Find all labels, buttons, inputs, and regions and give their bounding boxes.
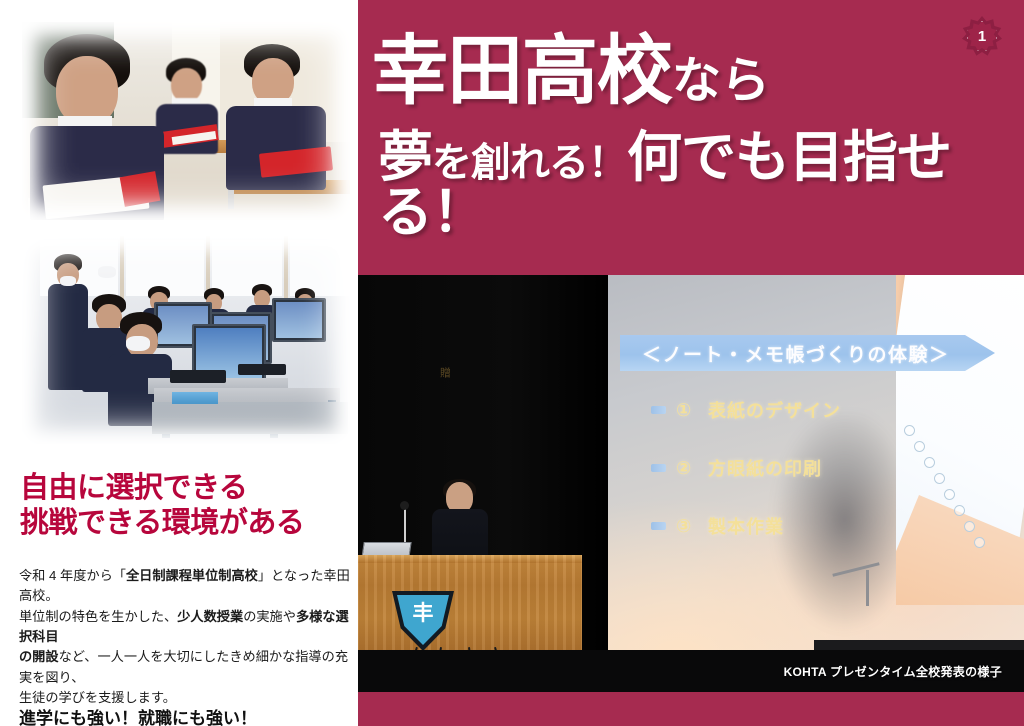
body-text: など、一人一人を大切にしたきめ細かな指導の充実を図り、 [19, 649, 348, 684]
title-dream: 夢 [378, 126, 432, 188]
body-paragraph-2: 単位制の特色を生かした、少人数授業の実施や多様な選択科目 [19, 607, 351, 648]
school-emblem-icon: 丰 [392, 591, 454, 651]
body-paragraph-1: 令和 4 年度から「全日制課程単位制高校」となった幸田高校。 [19, 566, 351, 607]
body-paragraph-4: 生徒の学びを支援します。 [19, 688, 351, 708]
bullet-icon [651, 406, 666, 414]
body-strong: の開設 [19, 649, 59, 664]
bullet-icon [651, 522, 666, 530]
left-column: 自由に選択できる 挑戦できる環境がある 令和 4 年度から「全日制課程単位制高校… [0, 0, 358, 726]
body-subheading: 進学にも強い！就職にも強い！ [19, 708, 351, 726]
slide-item-number: ③ [676, 516, 698, 537]
body-copy: 令和 4 年度から「全日制課程単位制高校」となった幸田高校。 単位制の特色を生か… [19, 566, 351, 726]
slide-banner: ＜ノート・メモ帳づくりの体験＞ [620, 335, 995, 371]
slide-item-number: ② [676, 458, 698, 479]
slide-item-label: 表紙のデザイン [708, 397, 841, 423]
slide-item-label: 製本作業 [708, 513, 784, 539]
slide-item-number: ① [676, 400, 698, 421]
notebook-graphic [896, 275, 1024, 605]
body-strong: 全日制課程単位制高校 [126, 568, 258, 583]
photo-caption: KOHTA プレゼンタイム全校発表の様子 [784, 663, 1002, 680]
projection-screen: ＜ノート・メモ帳づくりの体験＞ ① 表紙のデザイン ② 方眼紙の印刷 ③ 製本作… [601, 275, 1024, 675]
slide-item-3: ③ 製本作業 [651, 513, 784, 539]
slide-item-1: ① 表紙のデザイン [651, 397, 841, 423]
slide-item-2: ② 方眼紙の印刷 [651, 455, 822, 481]
section-headline: 自由に選択できる 挑戦できる環境がある [20, 471, 350, 542]
header-banner: 幸田高校なら 夢を創れる！何でも目指せる！ 1 [358, 0, 1024, 275]
photo-classroom [22, 22, 350, 220]
body-text: 令和 4 年度から「 [19, 568, 126, 583]
title-line-1: 幸田高校なら [372, 34, 1012, 110]
bullet-icon [651, 464, 666, 472]
title-suffix: なら [672, 54, 770, 108]
headline-line-1: 自由に選択できる [20, 471, 350, 506]
body-text: の実施や [243, 609, 296, 624]
page-number: 1 [962, 16, 1002, 56]
body-paragraph-3: の開設など、一人一人を大切にしたきめ細かな指導の充実を図り、 [19, 647, 351, 688]
photo-computer-lab [22, 236, 350, 444]
curtain-plaque: 贈 [436, 367, 453, 378]
title-school-name: 幸田高校 [372, 29, 672, 114]
title-dream-suffix: を創れる！ [432, 141, 627, 185]
header-title: 幸田高校なら 夢を創れる！何でも目指せる！ [372, 34, 1012, 240]
brochure-page: 自由に選択できる 挑戦できる環境がある 令和 4 年度から「全日制課程単位制高校… [0, 0, 1024, 726]
body-strong: 少人数授業 [177, 609, 243, 624]
body-text: 単位制の特色を生かした、 [19, 609, 177, 624]
slide-banner-text: ＜ノート・メモ帳づくりの体験＞ [620, 340, 950, 367]
title-line-2: 夢を創れる！何でも目指せる！ [378, 130, 1012, 240]
footer-strip [358, 692, 1024, 726]
microphone-stand-right [832, 564, 906, 606]
microphone-icon [400, 501, 409, 510]
page-number-badge: 1 [962, 16, 1002, 56]
photo-presentation: ＜ノート・メモ帳づくりの体験＞ ① 表紙のデザイン ② 方眼紙の印刷 ③ 製本作… [358, 275, 1024, 692]
slide-item-label: 方眼紙の印刷 [708, 455, 822, 481]
headline-line-2: 挑戦できる環境がある [20, 506, 350, 541]
